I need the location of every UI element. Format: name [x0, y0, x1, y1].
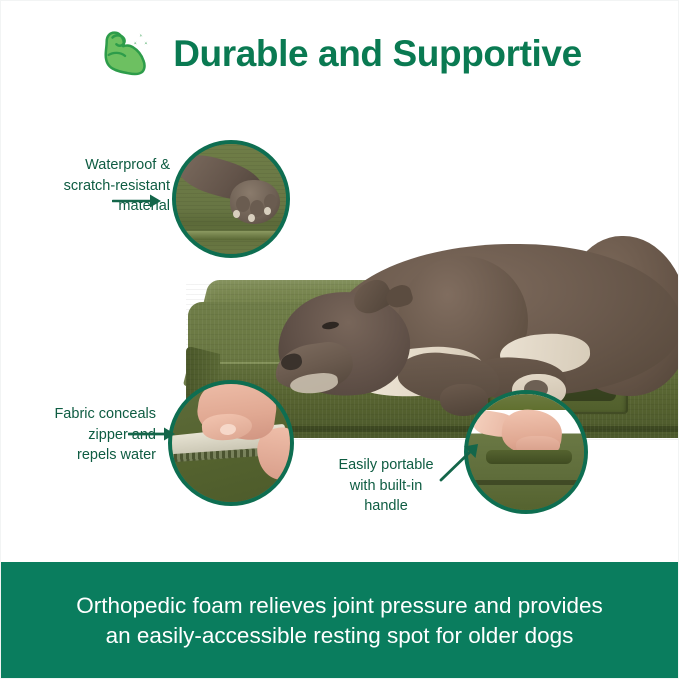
- header: Durable and Supportive: [0, 14, 679, 92]
- banner-line-2: an easily-accessible resting spot for ol…: [106, 621, 574, 650]
- page-title: Durable and Supportive: [173, 35, 582, 72]
- arrow-right-icon: [112, 192, 164, 215]
- flexed-bicep-icon: [97, 22, 159, 84]
- banner-line-1: Orthopedic foam relieves joint pressure …: [76, 591, 603, 620]
- product-infographic: Durable and Supportive F: [0, 0, 679, 679]
- inset-photo-waterproof: [172, 140, 290, 258]
- arrow-up-right-icon: [438, 440, 482, 489]
- bottom-banner: Orthopedic foam relieves joint pressure …: [0, 562, 679, 679]
- inset-photo-handle: [464, 390, 588, 514]
- inset-photo-zipper: [168, 380, 294, 506]
- arrow-right-icon: [128, 425, 178, 448]
- callout-label-handle: Easily portable with built-in handle: [320, 455, 452, 517]
